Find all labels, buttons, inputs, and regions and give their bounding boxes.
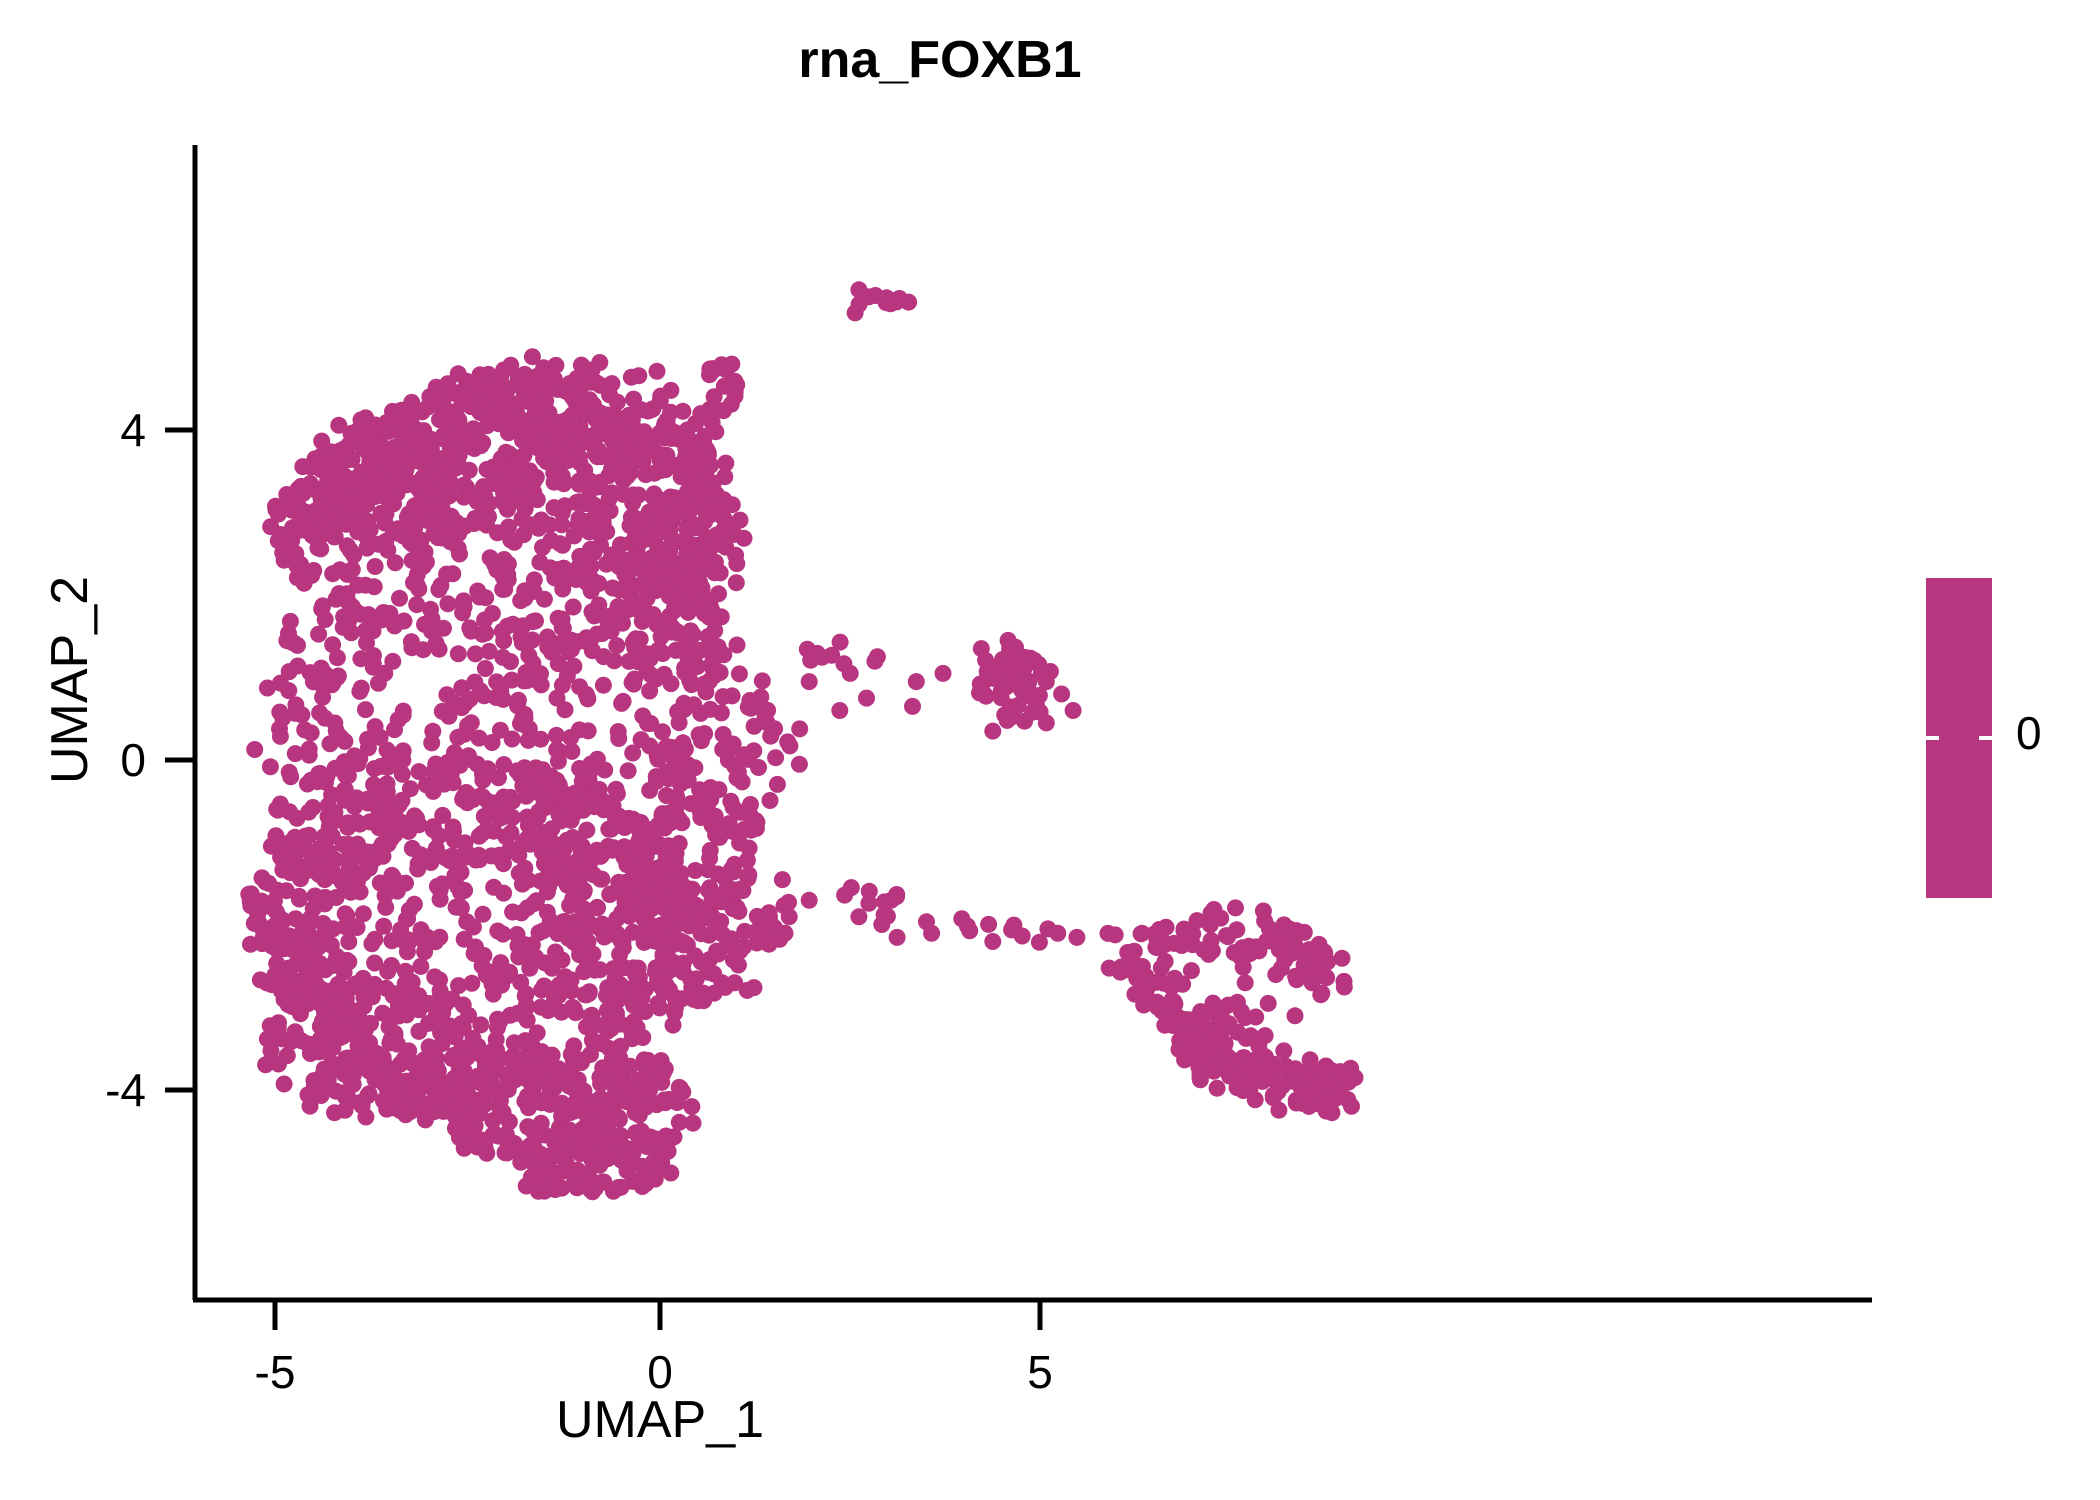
scatter-point bbox=[1296, 1078, 1313, 1095]
scatter-point bbox=[692, 563, 709, 580]
scatter-point bbox=[858, 690, 875, 707]
scatter-point bbox=[450, 645, 467, 662]
scatter-point bbox=[701, 673, 718, 690]
scatter-point bbox=[339, 1050, 356, 1067]
scatter-point bbox=[566, 426, 583, 443]
scatter-point bbox=[324, 636, 341, 653]
scatter-point bbox=[595, 677, 612, 694]
scatter-point bbox=[801, 892, 818, 909]
scatter-point bbox=[504, 904, 521, 921]
scatter-point bbox=[474, 764, 491, 781]
scatter-point bbox=[476, 687, 493, 704]
scatter-point bbox=[351, 683, 368, 700]
scatter-point bbox=[546, 1133, 563, 1150]
scatter-point bbox=[453, 899, 470, 916]
scatter-point bbox=[477, 1058, 494, 1075]
scatter-point bbox=[450, 977, 467, 994]
scatter-point bbox=[583, 543, 600, 560]
scatter-point bbox=[268, 903, 285, 920]
scatter-point bbox=[641, 683, 658, 700]
scatter-point bbox=[1195, 941, 1212, 958]
scatter-point bbox=[272, 796, 289, 813]
scatter-point bbox=[333, 1013, 350, 1030]
scatter-point bbox=[549, 381, 566, 398]
scatter-point bbox=[1205, 901, 1222, 918]
scatter-point bbox=[683, 1098, 700, 1115]
scatter-point bbox=[713, 704, 730, 721]
scatter-point bbox=[1260, 995, 1277, 1012]
scatter-point bbox=[280, 960, 297, 977]
y-tick-label: 0 bbox=[120, 734, 146, 786]
scatter-point bbox=[340, 767, 357, 784]
scatter-point bbox=[610, 1179, 627, 1196]
scatter-point bbox=[679, 550, 696, 567]
scatter-point bbox=[514, 876, 531, 893]
scatter-point bbox=[663, 866, 680, 883]
scatter-point bbox=[520, 732, 537, 749]
scatter-point bbox=[324, 565, 341, 582]
scatter-point bbox=[281, 663, 298, 680]
scatter-point bbox=[254, 935, 271, 952]
scatter-point bbox=[639, 1138, 656, 1155]
scatter-point bbox=[652, 642, 669, 659]
scatter-point bbox=[390, 711, 407, 728]
scatter-point bbox=[306, 1073, 323, 1090]
scatter-point bbox=[1156, 936, 1173, 953]
scatter-point bbox=[658, 763, 675, 780]
scatter-point bbox=[370, 536, 387, 553]
scatter-point bbox=[301, 511, 318, 528]
scatter-point bbox=[1233, 1003, 1250, 1020]
scatter-point bbox=[549, 690, 566, 707]
scatter-point bbox=[540, 878, 557, 895]
scatter-point bbox=[503, 824, 520, 841]
scatter-point bbox=[314, 597, 331, 614]
scatter-point bbox=[496, 808, 513, 825]
scatter-point bbox=[278, 632, 295, 649]
scatter-point bbox=[541, 516, 558, 533]
scatter-point bbox=[421, 1038, 438, 1055]
figure-canvas: rna_FOXB1 -50540-4 UMAP_2 UMAP_1 0 bbox=[0, 0, 2100, 1500]
scatter-point bbox=[671, 1114, 688, 1131]
scatter-point bbox=[451, 447, 468, 464]
scatter-point bbox=[621, 423, 638, 440]
scatter-point bbox=[463, 714, 480, 731]
scatter-point bbox=[397, 963, 414, 980]
scatter-point bbox=[900, 294, 917, 311]
scatter-point bbox=[1134, 925, 1151, 942]
scatter-point bbox=[629, 1019, 646, 1036]
scatter-point bbox=[428, 379, 445, 396]
scatter-point bbox=[693, 732, 710, 749]
scatter-point bbox=[379, 742, 396, 759]
scatter-point bbox=[695, 433, 712, 450]
scatter-point bbox=[614, 615, 631, 632]
scatter-point bbox=[406, 807, 423, 824]
scatter-point bbox=[474, 957, 491, 974]
scatter-point bbox=[274, 1030, 291, 1047]
scatter-point bbox=[668, 788, 685, 805]
scatter-point bbox=[1107, 926, 1124, 943]
scatter-point bbox=[583, 406, 600, 423]
scatter-point bbox=[659, 920, 676, 937]
scatter-point bbox=[610, 723, 627, 740]
scatter-point bbox=[873, 916, 890, 933]
scatter-point bbox=[589, 751, 606, 768]
scatter-point bbox=[548, 727, 565, 744]
scatter-point bbox=[620, 762, 637, 779]
scatter-point bbox=[290, 481, 307, 498]
scatter-point bbox=[326, 1104, 343, 1121]
scatter-point bbox=[453, 1015, 470, 1032]
scatter-point bbox=[366, 760, 383, 777]
scatter-point bbox=[336, 733, 353, 750]
scatter-point bbox=[506, 1071, 523, 1088]
scatter-point bbox=[298, 958, 315, 975]
scatter-point bbox=[791, 720, 808, 737]
scatter-point bbox=[1202, 916, 1219, 933]
scatter-point bbox=[726, 526, 743, 543]
scatter-point bbox=[713, 608, 730, 625]
scatter-point bbox=[321, 844, 338, 861]
scatter-point bbox=[302, 1098, 319, 1115]
scatter-point bbox=[935, 665, 952, 682]
scatter-point bbox=[389, 421, 406, 438]
scatter-point bbox=[476, 1096, 493, 1113]
scatter-point bbox=[370, 675, 387, 692]
scatter-point bbox=[638, 570, 655, 587]
scatter-point bbox=[407, 991, 424, 1008]
scatter-point bbox=[1265, 1089, 1282, 1106]
scatter-point bbox=[904, 698, 921, 715]
scatter-point bbox=[555, 472, 572, 489]
scatter-point bbox=[613, 904, 630, 921]
scatter-point bbox=[599, 979, 616, 996]
scatter-point bbox=[998, 678, 1015, 695]
scatter-point bbox=[1053, 686, 1070, 703]
scatter-point bbox=[653, 839, 670, 856]
scatter-point bbox=[1241, 945, 1258, 962]
scatter-point bbox=[781, 737, 798, 754]
scatter-point bbox=[533, 676, 550, 693]
scatter-point bbox=[415, 558, 432, 575]
scatter-point bbox=[650, 817, 667, 834]
scatter-point bbox=[777, 925, 794, 942]
scatter-point bbox=[367, 843, 384, 860]
scatter-point bbox=[394, 1075, 411, 1092]
scatter-point bbox=[584, 1093, 601, 1110]
colorbar-tick-left bbox=[1926, 736, 1939, 740]
scatter-point bbox=[246, 741, 263, 758]
scatter-point bbox=[384, 403, 401, 420]
scatter-point bbox=[371, 459, 388, 476]
scatter-point bbox=[1157, 953, 1174, 970]
scatter-point bbox=[578, 959, 595, 976]
scatter-point bbox=[379, 775, 396, 792]
scatter-point bbox=[519, 1118, 536, 1135]
scatter-point bbox=[653, 1074, 670, 1091]
scatter-point bbox=[661, 543, 678, 560]
scatter-point bbox=[581, 636, 598, 653]
scatter-point bbox=[404, 1054, 421, 1071]
scatter-point bbox=[684, 598, 701, 615]
scatter-point bbox=[727, 383, 744, 400]
scatter-point bbox=[570, 510, 587, 527]
scatter-point bbox=[625, 391, 642, 408]
scatter-point bbox=[412, 958, 429, 975]
scatter-point bbox=[378, 881, 395, 898]
scatter-point bbox=[533, 1048, 550, 1065]
scatter-point bbox=[688, 970, 705, 987]
scatter-point bbox=[346, 792, 363, 809]
scatter-point bbox=[547, 944, 564, 961]
scatter-point bbox=[1038, 714, 1055, 731]
scatter-point bbox=[446, 867, 463, 884]
scatter-point bbox=[340, 933, 357, 950]
scatter-point bbox=[272, 526, 289, 543]
scatter-point bbox=[746, 718, 763, 735]
scatter-point bbox=[702, 842, 719, 859]
scatter-point bbox=[653, 1154, 670, 1171]
scatter-point bbox=[1031, 934, 1048, 951]
scatter-point bbox=[576, 901, 593, 918]
scatter-point bbox=[630, 367, 647, 384]
scatter-point bbox=[427, 494, 444, 511]
scatter-point bbox=[495, 756, 512, 773]
scatter-point bbox=[408, 596, 425, 613]
scatter-point bbox=[1314, 958, 1331, 975]
scatter-point bbox=[750, 759, 767, 776]
scatter-point bbox=[500, 519, 517, 536]
scatter-point bbox=[729, 770, 746, 787]
scatter-point bbox=[565, 933, 582, 950]
scatter-point bbox=[683, 676, 700, 693]
scatter-point bbox=[728, 574, 745, 591]
scatter-point bbox=[720, 752, 737, 769]
scatter-point bbox=[636, 602, 653, 619]
scatter-point bbox=[359, 979, 376, 996]
scatter-point bbox=[348, 814, 365, 831]
scatter-point bbox=[586, 798, 603, 815]
scatter-point bbox=[677, 441, 694, 458]
scatter-point bbox=[678, 506, 695, 523]
scatter-point bbox=[557, 968, 574, 985]
scatter-point bbox=[303, 724, 320, 741]
scatter-point bbox=[1038, 673, 1055, 690]
y-tick-label: 4 bbox=[120, 404, 146, 456]
scatter-point bbox=[409, 861, 426, 878]
scatter-point bbox=[491, 1128, 508, 1145]
data-points-layer bbox=[240, 281, 1363, 1200]
scatter-point bbox=[1208, 1049, 1225, 1066]
scatter-point bbox=[606, 652, 623, 669]
scatter-point bbox=[312, 540, 329, 557]
scatter-point bbox=[609, 1043, 626, 1060]
scatter-point bbox=[647, 894, 664, 911]
scatter-point bbox=[303, 772, 320, 789]
scatter-point bbox=[413, 921, 430, 938]
scatter-point bbox=[484, 605, 501, 622]
scatter-point bbox=[634, 708, 651, 725]
scatter-point bbox=[366, 931, 383, 948]
scatter-point bbox=[978, 688, 995, 705]
scatter-point bbox=[562, 639, 579, 656]
scatter-point bbox=[494, 623, 511, 640]
scatter-point bbox=[850, 281, 867, 298]
scatter-point bbox=[495, 885, 512, 902]
scatter-point bbox=[281, 927, 298, 944]
scatter-point bbox=[496, 568, 513, 585]
scatter-point bbox=[1021, 673, 1038, 690]
scatter-point bbox=[390, 437, 407, 454]
scatter-point bbox=[727, 547, 744, 564]
scatter-point bbox=[640, 1089, 657, 1106]
scatter-point bbox=[1347, 1069, 1364, 1086]
scatter-point bbox=[622, 984, 639, 1001]
scatter-point bbox=[1283, 945, 1300, 962]
scatter-point bbox=[707, 808, 724, 825]
scatter-point bbox=[426, 968, 443, 985]
scatter-point bbox=[460, 786, 477, 803]
scatter-point bbox=[411, 763, 428, 780]
scatter-point bbox=[453, 679, 470, 696]
scatter-point bbox=[1287, 1007, 1304, 1024]
scatter-point bbox=[1267, 966, 1284, 983]
scatter-point bbox=[270, 1014, 287, 1031]
scatter-point bbox=[1235, 1082, 1252, 1099]
scatter-point bbox=[367, 558, 384, 575]
colorbar-legend: 0 bbox=[1926, 578, 1992, 898]
scatter-point bbox=[414, 469, 431, 486]
scatter-point bbox=[1304, 974, 1321, 991]
scatter-point bbox=[526, 473, 543, 490]
scatter-point bbox=[287, 705, 304, 722]
scatter-point bbox=[610, 598, 627, 615]
scatter-point bbox=[386, 826, 403, 843]
scatter-point bbox=[474, 626, 491, 643]
scatter-point bbox=[576, 1136, 593, 1153]
scatter-point bbox=[531, 390, 548, 407]
scatter-point bbox=[453, 1042, 470, 1059]
scatter-point bbox=[374, 1057, 391, 1074]
x-tick-label: 5 bbox=[1027, 1346, 1053, 1398]
scatter-point bbox=[1176, 921, 1193, 938]
scatter-point bbox=[1203, 1022, 1220, 1039]
scatter-point bbox=[889, 929, 906, 946]
scatter-point bbox=[591, 1157, 608, 1174]
scatter-point bbox=[484, 734, 501, 751]
scatter-point bbox=[326, 516, 343, 533]
scatter-point bbox=[493, 1050, 510, 1067]
scatter-point bbox=[612, 444, 629, 461]
scatter-point bbox=[454, 383, 471, 400]
scatter-point bbox=[645, 488, 662, 505]
scatter-point bbox=[409, 1092, 426, 1109]
scatter-point bbox=[529, 491, 546, 508]
scatter-point bbox=[658, 621, 675, 638]
scatter-point bbox=[300, 804, 317, 821]
scatter-point bbox=[276, 1076, 293, 1093]
scatter-point bbox=[441, 852, 458, 869]
scatter-point bbox=[1336, 979, 1353, 996]
scatter-point bbox=[980, 916, 997, 933]
x-tick-label: -5 bbox=[255, 1346, 296, 1398]
scatter-point bbox=[465, 420, 482, 437]
scatter-point bbox=[671, 714, 688, 731]
scatter-point bbox=[542, 1065, 559, 1082]
scatter-point bbox=[613, 695, 630, 712]
scatter-point bbox=[516, 582, 533, 599]
scatter-point bbox=[1166, 970, 1183, 987]
scatter-point bbox=[659, 499, 676, 516]
scatter-point bbox=[359, 623, 376, 640]
scatter-point bbox=[476, 370, 493, 387]
scatter-point bbox=[1178, 1021, 1195, 1038]
scatter-point bbox=[578, 362, 595, 379]
scatter-point bbox=[270, 1056, 287, 1073]
scatter-point bbox=[923, 925, 940, 942]
scatter-point bbox=[434, 1004, 451, 1021]
scatter-point bbox=[534, 761, 551, 778]
x-axis-label: UMAP_1 bbox=[420, 1390, 900, 1450]
scatter-point bbox=[450, 525, 467, 542]
scatter-point bbox=[801, 673, 818, 690]
scatter-point bbox=[311, 1043, 328, 1060]
scatter-point bbox=[1229, 1024, 1246, 1041]
scatter-point bbox=[595, 1174, 612, 1191]
scatter-point bbox=[705, 965, 722, 982]
scatter-point bbox=[615, 939, 632, 956]
scatter-point bbox=[311, 704, 328, 721]
scatter-point bbox=[530, 411, 547, 428]
scatter-point bbox=[424, 723, 441, 740]
scatter-point bbox=[539, 846, 556, 863]
scatter-point bbox=[294, 458, 311, 475]
scatter-point bbox=[514, 710, 531, 727]
scatter-point bbox=[420, 509, 437, 526]
scatter-point bbox=[399, 943, 416, 960]
scatter-point bbox=[605, 1141, 622, 1158]
scatter-point bbox=[1209, 1080, 1226, 1097]
scatter-point bbox=[724, 900, 741, 917]
scatter-point bbox=[445, 823, 462, 840]
scatter-point bbox=[534, 539, 551, 556]
scatter-point bbox=[495, 926, 512, 943]
scatter-point bbox=[663, 430, 680, 447]
scatter-point bbox=[715, 726, 732, 743]
scatter-point bbox=[512, 767, 529, 784]
scatter-point bbox=[676, 695, 693, 712]
scatter-point bbox=[565, 1052, 582, 1069]
scatter-point bbox=[850, 908, 867, 925]
scatter-point bbox=[647, 878, 664, 895]
scatter-point bbox=[377, 899, 394, 916]
scatter-point bbox=[582, 1046, 599, 1063]
scatter-point bbox=[309, 984, 326, 1001]
scatter-point bbox=[609, 394, 626, 411]
scatter-point bbox=[519, 1148, 536, 1165]
scatter-point bbox=[425, 1103, 442, 1120]
scatter-point bbox=[349, 836, 366, 853]
scatter-point bbox=[1334, 950, 1351, 967]
scatter-point bbox=[439, 595, 456, 612]
scatter-point bbox=[472, 508, 489, 525]
scatter-point bbox=[286, 829, 303, 846]
scatter-point bbox=[497, 444, 514, 461]
scatter-point bbox=[262, 758, 279, 775]
scatter-point bbox=[1237, 974, 1254, 991]
scatter-point bbox=[432, 1024, 449, 1041]
